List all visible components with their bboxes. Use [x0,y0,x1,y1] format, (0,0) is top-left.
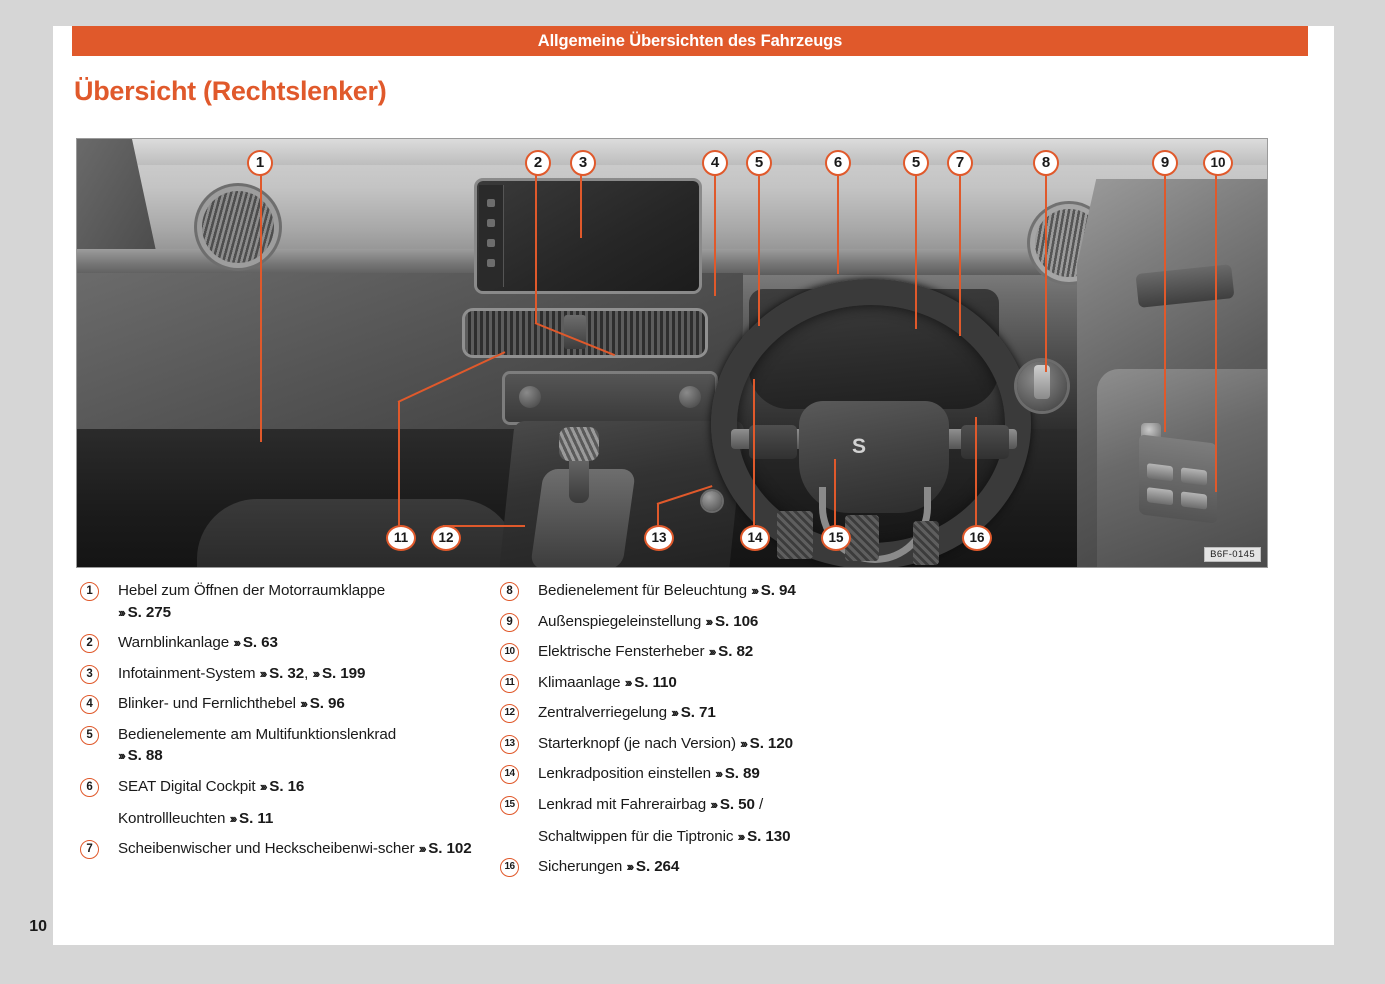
legend-item-number: 11 [500,674,519,693]
leader-line-2 [535,174,537,324]
legend-item[interactable]: 8Bedienelement für Beleuchtung ››› S. 94 [496,580,916,602]
screen-button-4-icon [487,259,495,267]
hazard-light-button-icon [564,315,586,349]
chevron-icon: ››› [705,614,711,629]
legend-column-right: 8Bedienelement für Beleuchtung ››› S. 94… [496,580,916,887]
legend-page-ref[interactable]: ››› S. 120 [740,735,793,752]
chevron-icon: ››› [751,583,757,598]
clutch-pedal-icon [777,511,813,559]
dashboard-figure: S B6F-0145 [76,138,1268,568]
legend-item-secondary: Kontrollleuchten ››› S. 11 [118,808,496,830]
legend-item[interactable]: 14Lenkradposition einstellen ››› S. 89 [496,763,916,785]
legend-item[interactable]: 1Hebel zum Öffnen der Motorraumklappe›››… [76,580,496,623]
running-header-title: Allgemeine Übersichten des Fahrzeugs [72,26,1308,56]
climate-control-panel [505,374,715,422]
start-button-icon [702,491,722,511]
figure-callout-4[interactable]: 4 [702,150,728,176]
legend-item-number: 1 [80,582,99,601]
legend-item-label: Bedienelement für Beleuchtung [538,582,747,599]
legend-item-label: Warnblinkanlage [118,634,229,651]
legend-item-number: 3 [80,665,99,684]
legend-item-label: Lenkrad mit Fahrerairbag [538,796,706,813]
leader-line-6 [837,174,839,274]
chevron-icon: ››› [738,829,744,844]
legend-item-number: 8 [500,582,519,601]
legend-item-label: Infotainment-System [118,665,255,682]
legend-page-ref[interactable]: ››› S. 63 [233,634,278,651]
chevron-icon: ››› [625,675,631,690]
screen-button-2-icon [487,219,495,227]
multifunction-buttons-right [961,425,1009,459]
legend-page-ref[interactable]: ››› S. 71 [671,704,716,721]
legend-item-number: 16 [500,858,519,877]
legend-item-label: Elektrische Fensterheber [538,643,704,660]
figure-callout-11[interactable]: 11 [386,525,416,551]
legend-item-label: Blinker- und Fernlichthebel [118,695,296,712]
passenger-seat [197,499,517,568]
light-switch-knob-icon [1034,365,1050,399]
window-switch-2-icon [1181,467,1207,485]
legend-item-number: 2 [80,634,99,653]
legend-item[interactable]: 16Sicherungen ››› S. 264 [496,856,916,878]
legend-page-ref[interactable]: ››› S. 264 [626,858,679,875]
legend-page-ref[interactable]: ››› S. 110 [625,674,677,691]
running-header-band: Allgemeine Übersichten des Fahrzeugs [72,26,1308,56]
chevron-icon: ››› [740,736,746,751]
infotainment-screen [477,181,699,291]
legend-page-ref[interactable]: ››› S. 32 [260,665,305,682]
figure-callout-1[interactable]: 1 [247,150,273,176]
legend-item-secondary: Schaltwippen für die Tiptronic ››› S. 13… [538,826,916,848]
legend-item[interactable]: 3Infotainment-System ››› S. 32, ››› S. 1… [76,663,496,685]
legend-item[interactable]: 10Elektrische Fensterheber ››› S. 82 [496,641,916,663]
legend-item[interactable]: 7Scheibenwischer und Heckscheibenwi-sche… [76,838,496,860]
legend-item-label: Außenspiegeleinstellung [538,613,701,630]
leader-line-11a [398,401,400,527]
leader-line-1 [260,174,262,442]
figure-callout-2[interactable]: 2 [525,150,551,176]
chevron-icon: ››› [671,705,677,720]
chevron-icon: ››› [118,605,124,620]
legend-item[interactable]: 12Zentralverriegelung ››› S. 71 [496,702,916,724]
legend-item[interactable]: 2Warnblinkanlage ››› S. 63 [76,632,496,654]
seat-logo-icon: S [852,435,898,457]
page-title: Übersicht (Rechtslenker) [74,76,386,107]
figure-callout-9[interactable]: 9 [1152,150,1178,176]
accelerator-pedal-icon [913,521,939,565]
legend-item[interactable]: 9Außenspiegeleinstellung ››› S. 106 [496,611,916,633]
infotainment-side-buttons [479,185,504,287]
figure-callout-10[interactable]: 10 [1203,150,1233,176]
chevron-icon: ››› [710,797,716,812]
figure-callout-8[interactable]: 8 [1033,150,1059,176]
legend-item[interactable]: 11Klimaanlage ››› S. 110 [496,672,916,694]
legend-item-number: 14 [500,765,519,784]
chevron-icon: ››› [300,696,306,711]
legend-item-number: 5 [80,726,99,745]
legend-page-ref[interactable]: ››› S. 50 [710,796,755,813]
chevron-icon: ››› [312,666,318,681]
chevron-icon: ››› [626,859,632,874]
figure-callout-14[interactable]: 14 [740,525,770,551]
legend-item-label: Scheibenwischer und Heckscheibenwi-scher [118,840,415,857]
chevron-icon: ››› [709,644,715,659]
leader-line-10 [1215,174,1217,492]
legend-item-number: 7 [80,840,99,859]
chevron-icon: ››› [233,635,239,650]
legend-column-left: 1Hebel zum Öffnen der Motorraumklappe›››… [76,580,496,869]
legend-item[interactable]: 5Bedienelemente am Multifunktionslenkrad… [76,724,496,767]
chevron-icon: ››› [118,748,124,763]
legend-item[interactable]: 15Lenkrad mit Fahrerairbag ››› S. 50 /Sc… [496,794,916,847]
legend-item-number: 6 [80,778,99,797]
legend-page-ref[interactable]: ››› S. 11 [229,810,273,827]
legend-page-ref[interactable]: ››› S. 16 [260,778,305,795]
legend-page-ref[interactable]: ››› S. 82 [709,643,754,660]
leader-line-4 [714,174,716,296]
legend-item-number: 13 [500,735,519,754]
climate-knob-right-icon [679,386,701,408]
leader-line-5b [915,174,917,329]
legend-page-ref[interactable]: ››› S. 94 [751,582,796,599]
legend-item-label: Lenkradposition einstellen [538,765,711,782]
figure-watermark: B6F-0145 [1204,547,1261,562]
leader-line-3 [580,174,582,238]
figure-callout-3[interactable]: 3 [570,150,596,176]
gear-lever-knob-icon [559,427,599,461]
figure-callout-5a[interactable]: 5 [746,150,772,176]
window-switch-panel [1139,434,1217,524]
leader-line-5a [758,174,760,326]
window-switch-4-icon [1181,491,1207,509]
legend-item-label: Klimaanlage [538,674,620,691]
leader-line-7 [959,174,961,336]
legend-item[interactable]: 4Blinker- und Fernlichthebel ››› S. 96 [76,693,496,715]
screen-button-1-icon [487,199,495,207]
leader-line-16 [975,417,977,527]
legend-item-number: 9 [500,613,519,632]
legend-item-number: 12 [500,704,519,723]
legend-item-label: SEAT Digital Cockpit [118,778,256,795]
legend-page-ref[interactable]: ››› S. 130 [738,828,791,845]
climate-knob-left-icon [519,386,541,408]
page-number: 10 [0,909,53,945]
chevron-icon: ››› [229,811,235,826]
window-switch-1-icon [1147,463,1173,481]
leader-line-9 [1164,174,1166,432]
figure-callout-12[interactable]: 12 [431,525,461,551]
legend-page-ref[interactable]: ››› S. 102 [419,840,472,857]
legend-page-ref[interactable]: ››› S. 275 [118,604,171,621]
leader-line-14 [753,379,755,527]
legend-page-ref[interactable]: ››› S. 106 [705,613,758,630]
legend-item-number: 15 [500,796,519,815]
figure-callout-16[interactable]: 16 [962,525,992,551]
chevron-icon: ››› [260,779,266,794]
leader-line-12 [443,525,525,527]
multifunction-buttons-left [749,425,797,459]
figure-callout-6[interactable]: 6 [825,150,851,176]
screen-button-3-icon [487,239,495,247]
legend-page-ref[interactable]: ››› S. 199 [312,665,365,682]
legend-item[interactable]: 13Starterknopf (je nach Version) ››› S. … [496,733,916,755]
legend-page-ref[interactable]: ››› S. 89 [715,765,760,782]
chevron-icon: ››› [260,666,266,681]
legend-item[interactable]: 6SEAT Digital Cockpit ››› S. 16Kontrolll… [76,776,496,829]
legend-page-ref[interactable]: ››› S. 88 [118,747,163,764]
legend-item-label: Bedienelemente am Multifunktionslenkrad [118,726,396,743]
chevron-icon: ››› [715,766,721,781]
leader-line-8 [1045,174,1047,372]
legend-item-label: Hebel zum Öffnen der Motorraumklappe [118,582,385,599]
figure-callout-15[interactable]: 15 [821,525,851,551]
figure-callout-7[interactable]: 7 [947,150,973,176]
chevron-icon: ››› [419,841,425,856]
figure-callout-5b[interactable]: 5 [903,150,929,176]
legend-item-label: Starterknopf (je nach Version) [538,735,736,752]
legend-item-number: 10 [500,643,519,662]
leader-line-15 [834,459,836,527]
legend-item-number: 4 [80,695,99,714]
window-switch-3-icon [1147,487,1173,505]
legend-item-label: Zentralverriegelung [538,704,667,721]
figure-callout-13[interactable]: 13 [644,525,674,551]
air-vent-left-icon [202,191,274,263]
legend-page-ref[interactable]: ››› S. 96 [300,695,345,712]
legend-item-label: Sicherungen [538,858,622,875]
